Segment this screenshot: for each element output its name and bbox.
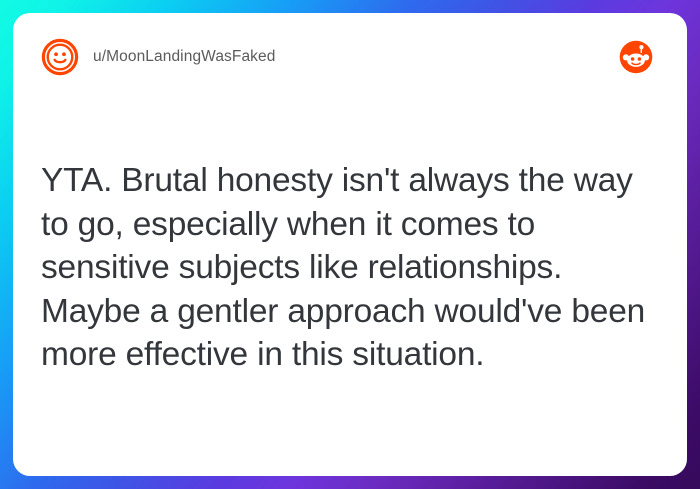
reddit-comment-card: u/MoonLandingWasFaked YTA. Brutal honest… xyxy=(13,13,687,476)
username-label[interactable]: u/MoonLandingWasFaked xyxy=(93,48,275,66)
smiley-face-avatar-icon[interactable] xyxy=(41,38,79,76)
reddit-snoo-logo-icon[interactable] xyxy=(619,40,653,74)
comment-header: u/MoonLandingWasFaked xyxy=(13,13,687,101)
comment-text: YTA. Brutal honesty isn't always the way… xyxy=(41,159,655,377)
screenshot-root: u/MoonLandingWasFaked YTA. Brutal honest… xyxy=(0,0,700,489)
